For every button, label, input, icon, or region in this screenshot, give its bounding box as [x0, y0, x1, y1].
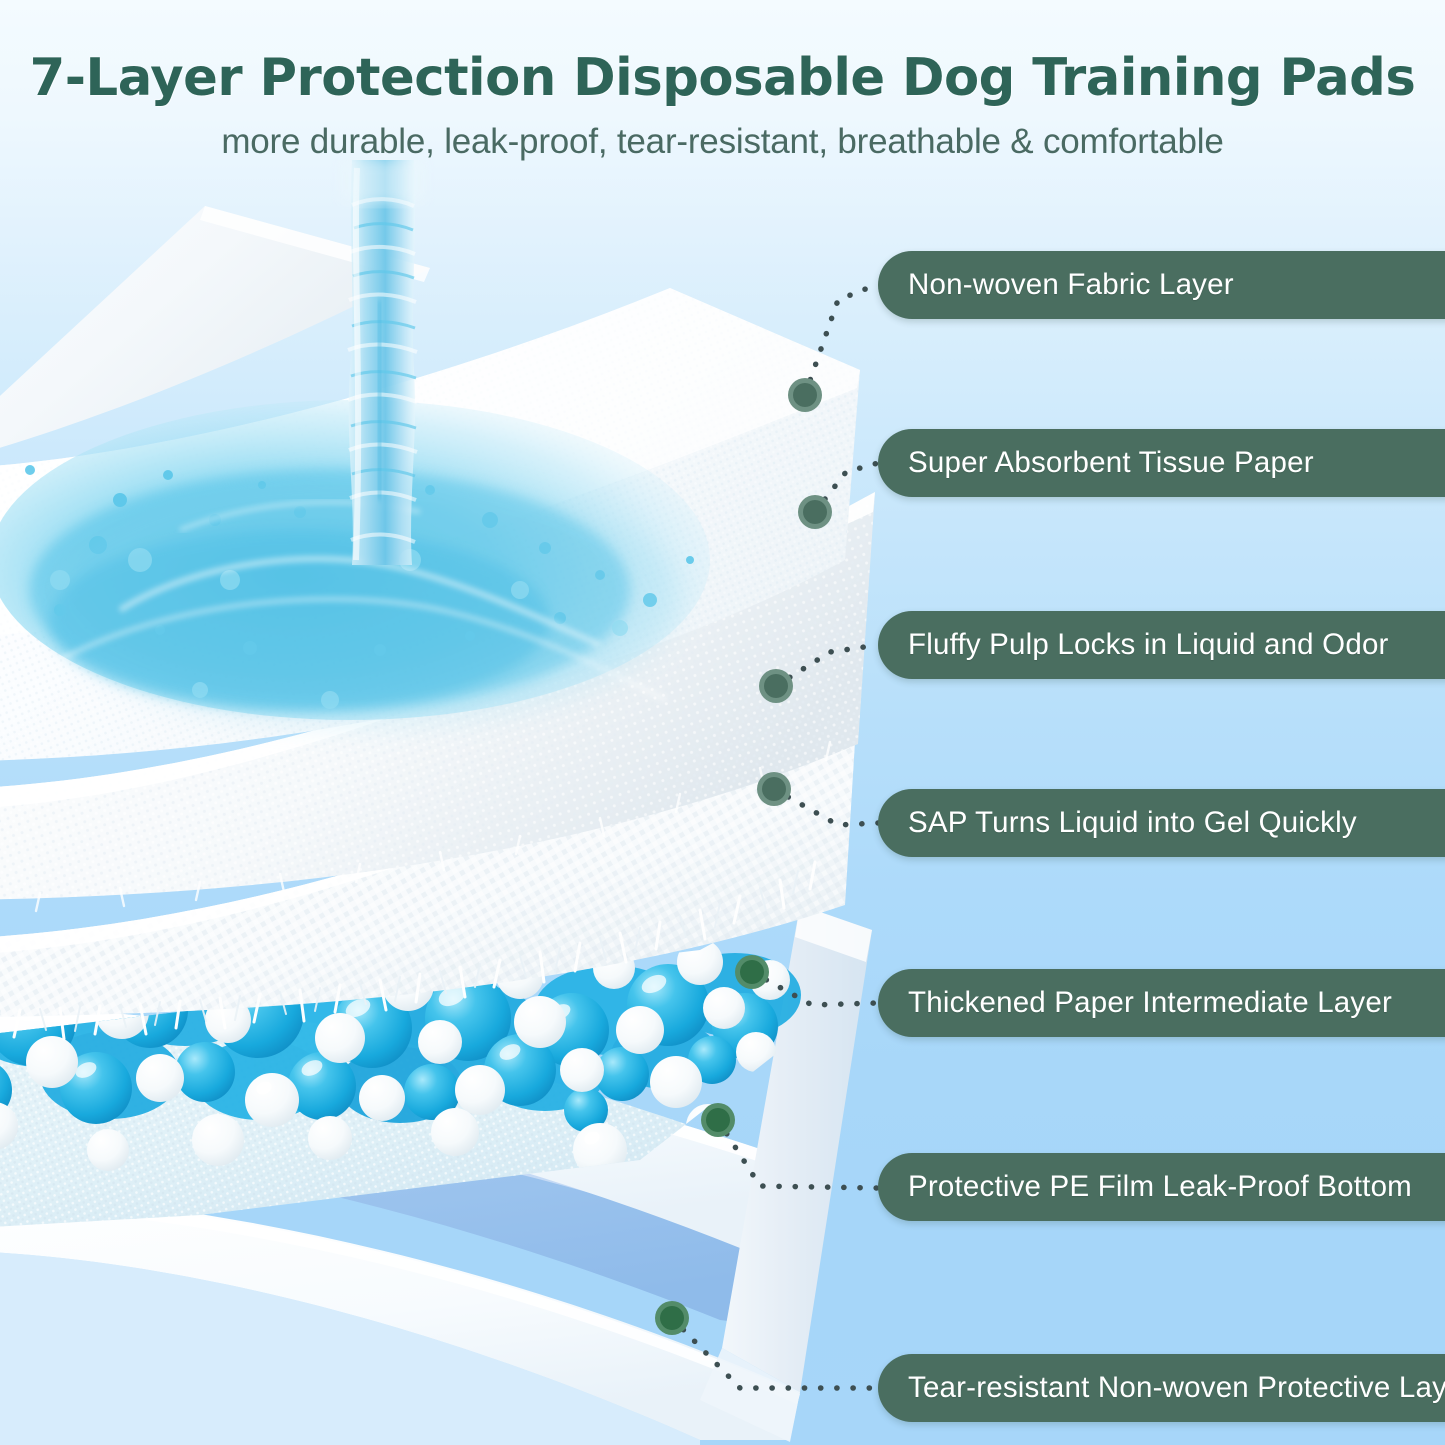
- label-text-layer-5: Thickened Paper Intermediate Layer: [878, 986, 1392, 1020]
- label-text-layer-2: Super Absorbent Tissue Paper: [878, 446, 1314, 480]
- label-text-layer-3: Fluffy Pulp Locks in Liquid and Odor: [878, 628, 1389, 662]
- label-pill-sap-gel[interactable]: SAP Turns Liquid into Gel Quickly: [878, 789, 1445, 857]
- label-pill-thickened-paper[interactable]: Thickened Paper Intermediate Layer: [878, 969, 1445, 1037]
- page-subtitle: more durable, leak-proof, tear-resistant…: [0, 104, 1445, 162]
- label-pill-pe-film[interactable]: Protective PE Film Leak-Proof Bottom: [878, 1153, 1445, 1221]
- product-cutaway-illustration: [0, 0, 1445, 1445]
- anchor-dot-layer-5: [735, 955, 769, 989]
- label-text-layer-6: Protective PE Film Leak-Proof Bottom: [878, 1170, 1412, 1204]
- anchor-dot-layer-1: [788, 378, 822, 412]
- anchor-dot-layer-2: [798, 495, 832, 529]
- label-pill-tear-resistant-nonwoven[interactable]: Tear-resistant Non-woven Protective Laye…: [878, 1354, 1445, 1422]
- label-text-layer-7: Tear-resistant Non-woven Protective Laye…: [878, 1371, 1445, 1405]
- label-pill-fluffy-pulp[interactable]: Fluffy Pulp Locks in Liquid and Odor: [878, 611, 1445, 679]
- label-pill-nonwoven-fabric-layer[interactable]: Non-woven Fabric Layer: [878, 251, 1445, 319]
- anchor-dot-layer-4: [757, 772, 791, 806]
- anchor-dot-layer-7: [655, 1301, 689, 1335]
- label-pill-super-absorbent-tissue-paper[interactable]: Super Absorbent Tissue Paper: [878, 429, 1445, 497]
- header: 7-Layer Protection Disposable Dog Traini…: [0, 0, 1445, 162]
- anchor-dot-layer-3: [759, 669, 793, 703]
- anchor-dot-layer-6: [701, 1103, 735, 1137]
- page-title: 7-Layer Protection Disposable Dog Traini…: [11, 0, 1434, 104]
- label-text-layer-4: SAP Turns Liquid into Gel Quickly: [878, 806, 1357, 840]
- label-text-layer-1: Non-woven Fabric Layer: [878, 268, 1234, 302]
- infographic-canvas: Non-woven Fabric Layer Super Absorbent T…: [0, 0, 1445, 1445]
